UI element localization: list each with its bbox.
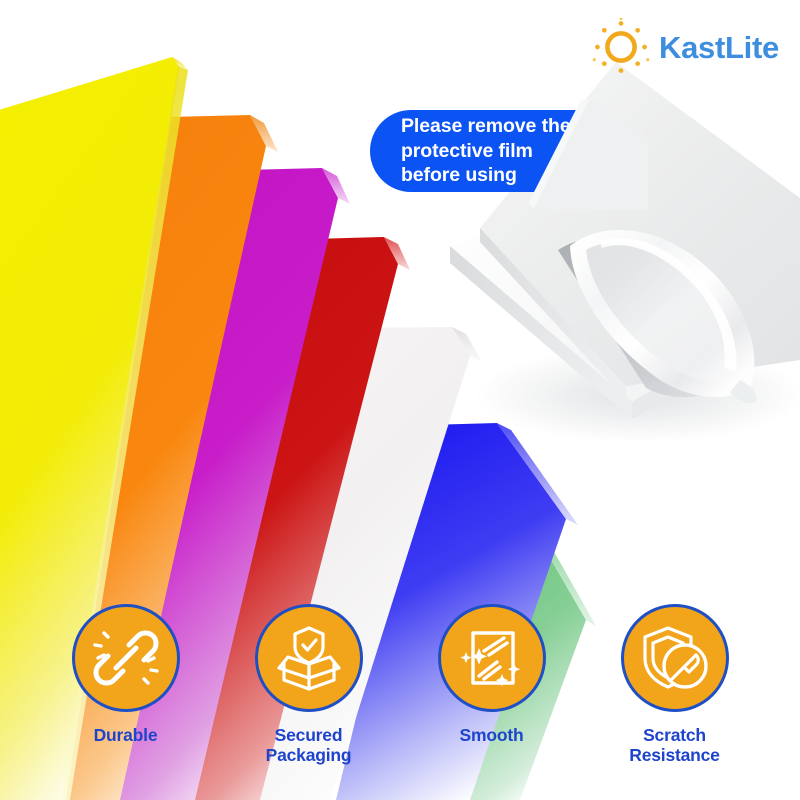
feature-label: Durable [94,725,158,746]
shiny-pane-icon [458,624,526,692]
feature-label: Scratch Resistance [629,725,719,766]
feature-icon-circle [72,604,180,712]
brand-name: KastLite [659,32,779,63]
feature-badges-row: Durable [0,604,800,766]
brand-logo: KastLite [592,18,779,76]
feature-label: Smooth [460,725,524,746]
shielded-box-icon [274,623,344,693]
product-infographic: Please remove the protective film before… [0,0,800,800]
feature-icon-circle [438,604,546,712]
protective-film-callout-badge: Please remove the protective film before… [370,110,590,192]
feature-secured-packaging[interactable]: Secured Packaging [229,604,389,766]
shield-blade-icon [640,623,710,693]
sun-icon [592,18,650,76]
feature-icon-circle [621,604,729,712]
feature-icon-circle [255,604,363,712]
feature-scratch-resistance[interactable]: Scratch Resistance [595,604,755,766]
chain-link-icon [92,624,160,692]
feature-label: Secured Packaging [266,725,352,766]
callout-text: Please remove the protective film before… [401,114,571,188]
feature-durable[interactable]: Durable [46,604,206,746]
feature-smooth[interactable]: Smooth [412,604,572,746]
